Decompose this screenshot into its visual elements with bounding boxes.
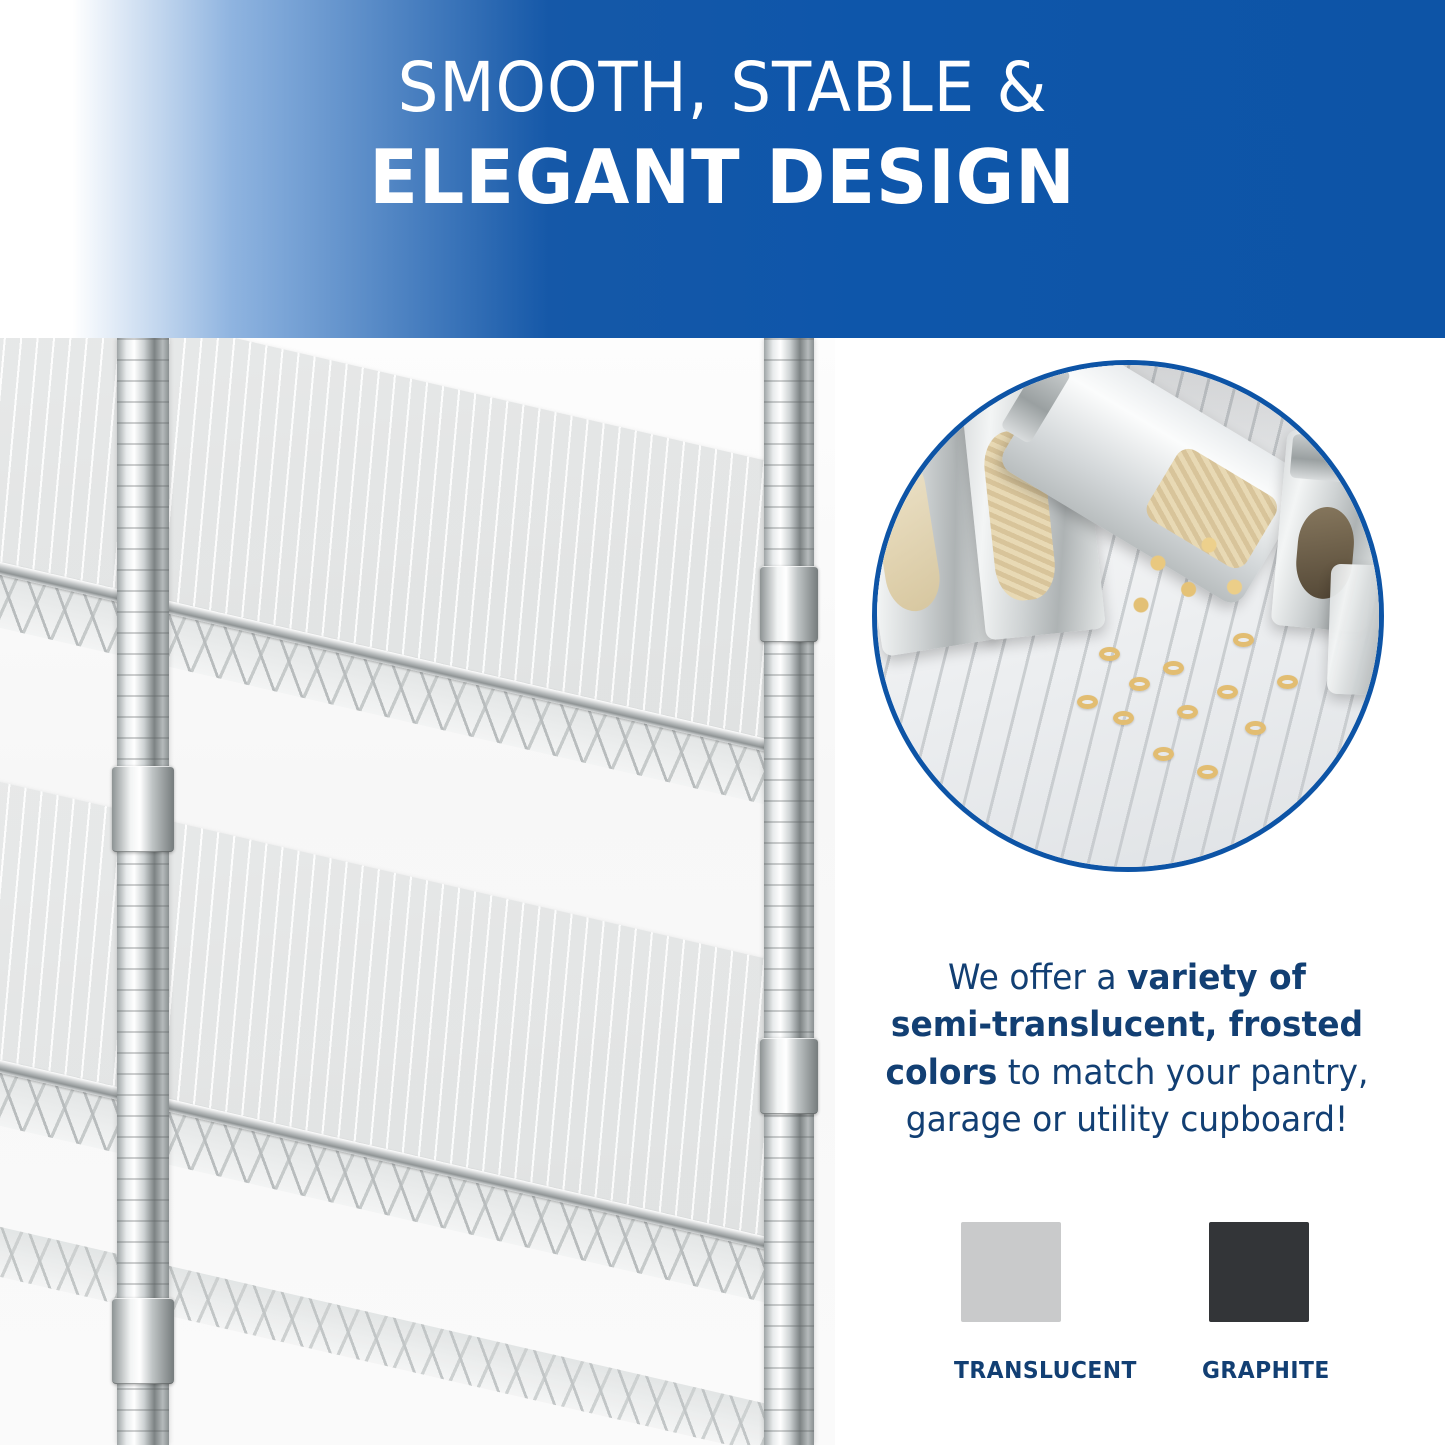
cereal-ring (1245, 721, 1266, 735)
body-copy-line-2: semi-translucent, frosted (878, 1002, 1376, 1049)
cereal-ring (1233, 633, 1254, 647)
headline-line-1: SMOOTH, STABLE & (51, 52, 1395, 124)
cereal-ring (1113, 711, 1134, 725)
body-copy-line-2-bold: semi-translucent, frosted (891, 1005, 1363, 1045)
swatch-label-translucent: TRANSLUCENT (954, 1358, 1068, 1384)
body-copy-line-1: We offer a variety of (878, 955, 1376, 1002)
header-text-block: SMOOTH, STABLE & ELEGANT DESIGN (0, 52, 1445, 217)
cereal-ring (1217, 685, 1238, 699)
cereal-ring (1177, 705, 1198, 719)
body-copy-line-3: colors to match your pantry, (878, 1050, 1376, 1097)
body-copy: We offer a variety of semi-translucent, … (878, 955, 1376, 1144)
swatch-label-graphite: GRAPHITE (1202, 1358, 1316, 1384)
headline-line-2: ELEGANT DESIGN (36, 138, 1409, 217)
cereal-ring (1099, 647, 1120, 661)
post-collar-right-upper (760, 566, 818, 642)
cereal-ring (1277, 675, 1298, 689)
swatch-graphite[interactable]: GRAPHITE (1199, 1222, 1319, 1384)
promo-image: SMOOTH, STABLE & ELEGANT DESIGN (0, 0, 1445, 1445)
chrome-post-left (117, 338, 169, 1445)
body-copy-line-4: garage or utility cupboard! (878, 1097, 1376, 1144)
cereal-ring (1077, 695, 1098, 709)
jar-window-oats (872, 449, 945, 615)
body-copy-line-3-bold: colors (886, 1053, 998, 1093)
cereal-ring (1163, 661, 1184, 675)
cereal-ring (1197, 765, 1218, 779)
shelving-product-photo (0, 338, 835, 1445)
post-collar-right-lower (760, 1038, 818, 1114)
jar-lid-coffee (1290, 434, 1378, 485)
header-banner: SMOOTH, STABLE & ELEGANT DESIGN (0, 0, 1445, 338)
swatch-color-chip-translucent (961, 1222, 1061, 1322)
chrome-post-right (764, 338, 814, 1445)
body-copy-line-3-rest: to match your pantry, (997, 1053, 1368, 1093)
swatch-translucent[interactable]: TRANSLUCENT (951, 1222, 1071, 1384)
post-collar-left-upper (112, 766, 174, 852)
cereal-pile (1107, 515, 1277, 635)
circle-inset-photo (872, 360, 1384, 872)
post-grooves-left (117, 338, 169, 1445)
body-copy-line-1-prefix: We offer a (948, 958, 1127, 998)
post-grooves-right (764, 338, 814, 1445)
cereal-ring (1153, 747, 1174, 761)
body-copy-line-1-bold: variety of (1127, 958, 1306, 998)
cereal-ring (1129, 677, 1150, 691)
color-swatch-row: TRANSLUCENT GRAPHITE (905, 1222, 1365, 1384)
swatch-color-chip-graphite (1209, 1222, 1309, 1322)
post-collar-left-lower (112, 1298, 174, 1384)
jar-small-back-right (1327, 564, 1384, 697)
